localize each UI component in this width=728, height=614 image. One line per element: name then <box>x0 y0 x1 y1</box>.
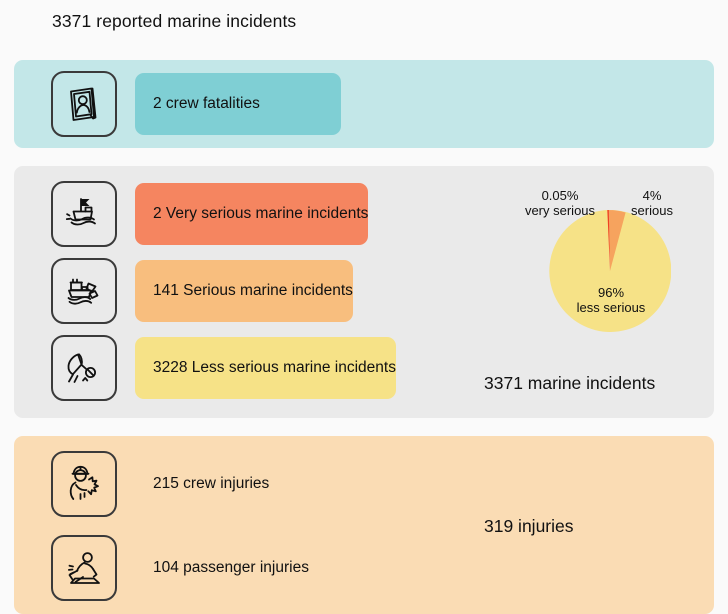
pill-very-serious-incidents: 2 Very serious marine incidents <box>135 183 368 245</box>
row-crew-injuries: 215 crew injuries <box>51 451 269 517</box>
pie-label-serious-name: serious <box>631 203 673 218</box>
row-less-serious-incidents: 3228 Less serious marine incidents <box>51 335 396 401</box>
photo-frame-portrait-icon <box>51 71 117 137</box>
pie-label-less-serious-name: less serious <box>577 300 646 315</box>
page-title: 3371 reported marine incidents <box>52 11 296 32</box>
pie-label-less-serious-percent: 96% <box>598 285 624 300</box>
pie-label-less-serious: 96% less serious <box>561 285 661 315</box>
slipping-person-icon <box>51 535 117 601</box>
injured-worker-hardhat-icon <box>51 451 117 517</box>
pie-label-very-serious: 0.05% very serious <box>512 188 608 218</box>
sinking-ship-icon <box>51 181 117 247</box>
incidents-summary-total: 3371 marine incidents <box>484 373 655 394</box>
broken-equipment-icon <box>51 335 117 401</box>
pie-label-serious-percent: 4% <box>643 188 662 203</box>
pie-label-very-serious-percent: 0.05% <box>542 188 579 203</box>
pie-label-serious: 4% serious <box>618 188 686 218</box>
row-very-serious-incidents: 2 Very serious marine incidents <box>51 181 368 247</box>
pill-passenger-injuries: 104 passenger injuries <box>135 537 309 599</box>
injuries-summary-total: 319 injuries <box>484 516 574 537</box>
pill-serious-incidents: 141 Serious marine incidents <box>135 260 353 322</box>
pill-crew-injuries: 215 crew injuries <box>135 453 269 515</box>
row-passenger-injuries: 104 passenger injuries <box>51 535 309 601</box>
pill-less-serious-incidents: 3228 Less serious marine incidents <box>135 337 396 399</box>
pie-label-very-serious-name: very serious <box>525 203 595 218</box>
row-serious-incidents: 141 Serious marine incidents <box>51 258 353 324</box>
row-crew-fatalities: 2 crew fatalities <box>51 71 341 137</box>
damaged-cargo-ship-icon <box>51 258 117 324</box>
pill-crew-fatalities: 2 crew fatalities <box>135 73 341 135</box>
